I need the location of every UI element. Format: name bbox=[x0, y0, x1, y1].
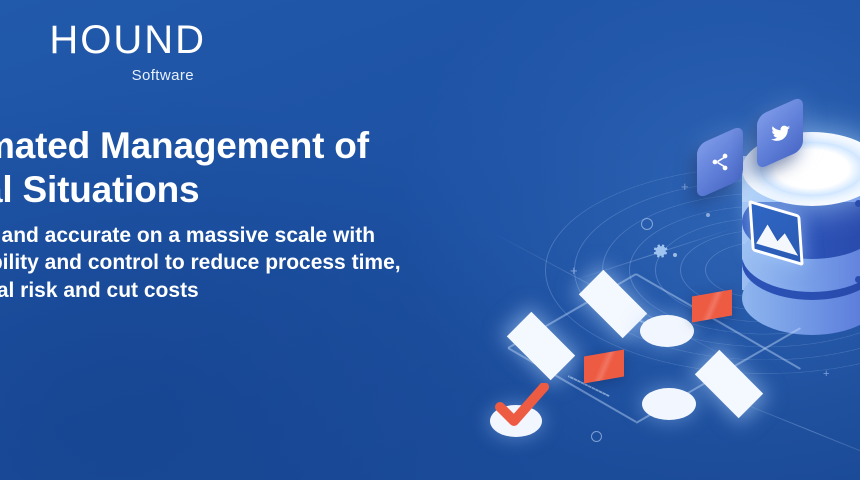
logo-subtitle: Software bbox=[0, 67, 194, 84]
subheadline-line-1: e and accurate on a massive scale with bbox=[0, 222, 504, 249]
logo-wordmark: HOUND bbox=[0, 20, 206, 60]
dot-decor bbox=[706, 213, 710, 217]
circle-outline-icon bbox=[641, 218, 653, 230]
plus-spark-icon: + bbox=[681, 180, 689, 193]
rect-sheen bbox=[692, 289, 732, 322]
page-subtitle: e and accurate on a massive scale with i… bbox=[0, 222, 504, 304]
hero-banner: + + + − bbox=[0, 0, 860, 480]
flow-node-diamond bbox=[579, 270, 647, 338]
dot-decor bbox=[673, 253, 677, 257]
checkmark-icon bbox=[494, 383, 550, 429]
flowchart-illustration bbox=[470, 265, 860, 480]
gear-icon bbox=[650, 241, 670, 266]
headline-line-1: mated Management of bbox=[0, 124, 502, 168]
flow-node-ellipse bbox=[642, 388, 696, 420]
database-indicator-dot bbox=[855, 238, 860, 245]
page-title: mated Management of al Situations bbox=[0, 124, 502, 211]
subheadline-line-2: ibility and control to reduce process ti… bbox=[0, 249, 504, 276]
flow-node-rect bbox=[692, 289, 732, 322]
rect-sheen bbox=[584, 349, 624, 383]
share-icon bbox=[709, 151, 731, 173]
flow-node-diamond bbox=[507, 312, 575, 380]
twitter-bird-icon bbox=[769, 122, 792, 145]
logo[interactable]: HOUND Software bbox=[0, 20, 206, 84]
database-indicator-dot bbox=[855, 200, 860, 207]
subheadline-line-3: nal risk and cut costs bbox=[0, 277, 504, 304]
headline-line-2: al Situations bbox=[0, 168, 502, 212]
flow-node-diamond bbox=[695, 350, 763, 418]
flow-node-rect bbox=[584, 349, 624, 383]
flow-node-ellipse bbox=[640, 315, 694, 347]
